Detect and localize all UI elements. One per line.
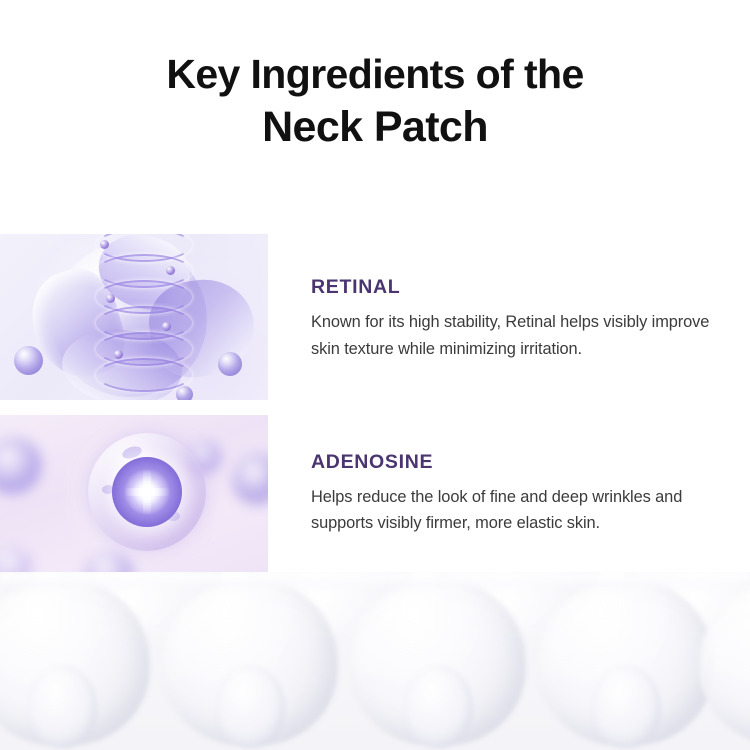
glowing-cell-icon bbox=[0, 415, 268, 572]
product-photo-footer: The information provided is for ingredie… bbox=[0, 572, 750, 750]
ingredient-copy-adenosine: ADENOSINE Helps reduce the look of fine … bbox=[268, 415, 750, 572]
ingredient-row-adenosine: ADENOSINE Helps reduce the look of fine … bbox=[0, 415, 750, 572]
helix-strand-shape bbox=[96, 234, 188, 400]
cell-nucleus-shape bbox=[112, 457, 182, 527]
ingredient-image-retinal bbox=[0, 234, 268, 400]
floating-droplet-shape bbox=[218, 352, 242, 376]
ingredient-description-adenosine: Helps reduce the look of fine and deep w… bbox=[311, 484, 724, 537]
patch-dome-shape bbox=[350, 578, 526, 746]
ingredient-description-retinal: Known for its high stability, Retinal he… bbox=[311, 309, 724, 362]
patch-dome-shape bbox=[538, 578, 714, 746]
bokeh-sphere-shape bbox=[0, 437, 42, 495]
cell-membrane-shape bbox=[88, 433, 206, 551]
product-detail-page: Key Ingredients of the Neck Patch bbox=[0, 0, 750, 750]
page-title-line-1: Key Ingredients of the bbox=[166, 50, 583, 98]
ingredient-row-retinal: RETINAL Known for its high stability, Re… bbox=[0, 234, 750, 400]
patch-tray-image bbox=[0, 572, 750, 750]
dna-helix-icon bbox=[0, 234, 268, 400]
patch-dome-shape bbox=[162, 578, 338, 746]
floating-droplet-shape bbox=[176, 386, 193, 400]
light-burst-shape bbox=[124, 469, 170, 515]
page-title-line-2: Neck Patch bbox=[262, 103, 488, 151]
page-header: Key Ingredients of the Neck Patch bbox=[0, 0, 750, 234]
ingredient-copy-retinal: RETINAL Known for its high stability, Re… bbox=[268, 234, 750, 400]
ingredient-name-adenosine: ADENOSINE bbox=[311, 451, 724, 473]
bokeh-sphere-shape bbox=[84, 551, 134, 572]
bokeh-sphere-shape bbox=[232, 453, 268, 505]
ingredient-name-retinal: RETINAL bbox=[311, 276, 724, 298]
floating-droplet-shape bbox=[14, 346, 43, 375]
bokeh-sphere-shape bbox=[0, 547, 32, 572]
tray-edge-highlight bbox=[0, 572, 750, 588]
ingredient-image-adenosine bbox=[0, 415, 268, 572]
